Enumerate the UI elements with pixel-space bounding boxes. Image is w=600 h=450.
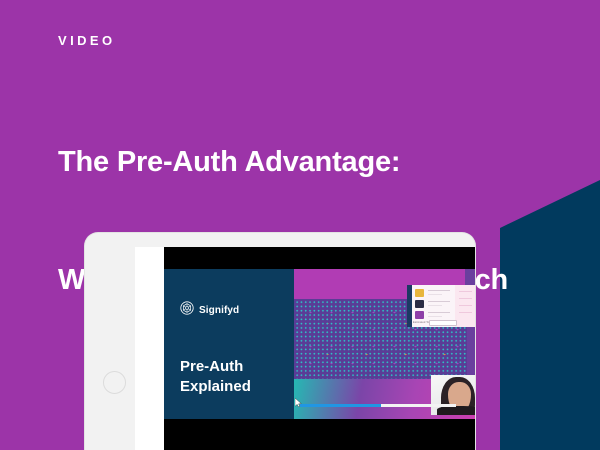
tablet-device: Estimated Total [85, 233, 475, 450]
inset-sidebar [407, 285, 412, 327]
inset-text-line [428, 290, 450, 291]
inset-text-line [459, 291, 472, 292]
inset-text-line [428, 305, 442, 306]
signifyd-mark-icon [180, 301, 194, 320]
video-progress-bar[interactable] [300, 404, 456, 407]
tablet-screen: Estimated Total [135, 247, 475, 450]
inset-text-line [428, 294, 442, 295]
home-button[interactable] [103, 371, 126, 394]
inset-checkout-button[interactable] [429, 320, 457, 326]
headline-line-1: The Pre-Auth Advantage: [58, 143, 508, 182]
video-progress-fill [300, 404, 381, 407]
slide-title-pane: Signifyd Pre-Auth Explained [164, 269, 294, 419]
webcam-thumbnail[interactable] [431, 375, 475, 415]
promo-card: VIDEO The Pre-Auth Advantage: Why you sh… [0, 0, 600, 450]
inset-text-line [428, 312, 450, 313]
eyebrow-label: VIDEO [58, 33, 115, 48]
letterbox-bottom [164, 419, 475, 450]
inset-text-line [428, 301, 450, 302]
slide-title-line-2: Explained [180, 377, 251, 397]
inset-text-line [459, 298, 472, 299]
slide-title-line-1: Pre-Auth [180, 357, 251, 377]
inset-text-line [459, 305, 472, 306]
inset-text-line [428, 316, 442, 317]
video-player[interactable]: Estimated Total [164, 247, 475, 450]
brand-name-label: Signifyd [199, 305, 239, 316]
slide-title: Pre-Auth Explained [180, 357, 251, 398]
screen-share-region: Estimated Total [294, 269, 475, 419]
corner-accent-shape [500, 180, 600, 450]
checkout-inset-panel: Estimated Total [407, 285, 475, 327]
inset-product-thumb [415, 300, 424, 308]
video-stage: Estimated Total [164, 269, 475, 419]
signifyd-logo: Signifyd [180, 301, 239, 320]
inset-product-thumb [415, 311, 424, 319]
cursor-arrow-icon [295, 394, 302, 412]
presenter-shoulder [437, 406, 475, 415]
inset-product-thumb [415, 289, 424, 297]
inset-text-line [459, 312, 472, 313]
inset-summary-sidebar [455, 285, 475, 327]
